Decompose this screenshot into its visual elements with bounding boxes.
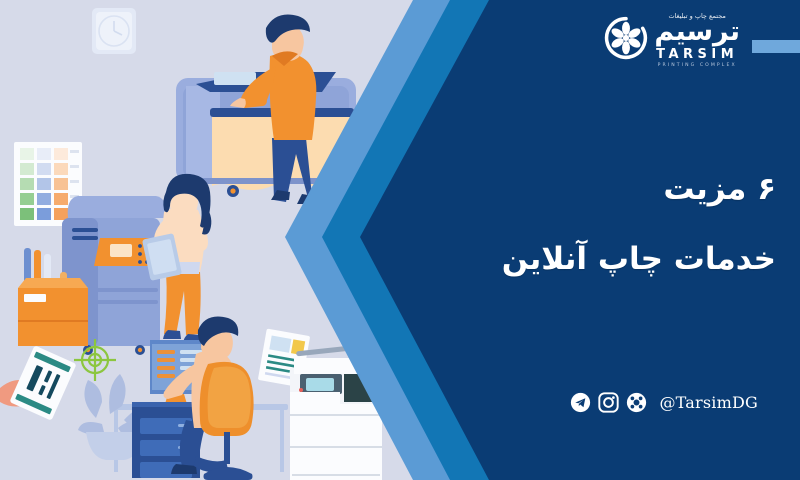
brand-logo-text: مجتمع چاپ و تبلیغات ترسیم TARSIM PRINTIN… bbox=[654, 12, 740, 69]
poster-canvas: مجتمع چاپ و تبلیغات ترسیم TARSIM PRINTIN… bbox=[0, 0, 800, 480]
headline-line-1: ۶ مزیت bbox=[416, 165, 776, 213]
social-row: @TarsimDG bbox=[570, 392, 758, 413]
headline-line-2: خدمات چاپ آنلاین bbox=[416, 235, 776, 283]
aparat-icon[interactable] bbox=[626, 392, 647, 413]
logo-brand-sub-en: PRINTING COMPLEX bbox=[658, 64, 737, 69]
instagram-icon[interactable] bbox=[598, 392, 619, 413]
brand-logo[interactable]: مجتمع چاپ و تبلیغات ترسیم TARSIM PRINTIN… bbox=[604, 12, 740, 69]
headline: ۶ مزیت خدمات چاپ آنلاین bbox=[416, 165, 776, 283]
logo-brand-en: TARSIM bbox=[656, 48, 738, 61]
flower-petal-logo-icon bbox=[604, 16, 648, 60]
logo-brand-fa: ترسیم bbox=[654, 18, 740, 45]
social-handle[interactable]: @TarsimDG bbox=[659, 393, 758, 412]
logo-accent-bar bbox=[752, 40, 800, 53]
telegram-icon[interactable] bbox=[570, 392, 591, 413]
logo-tagline-fa: مجتمع چاپ و تبلیغات bbox=[668, 12, 725, 20]
